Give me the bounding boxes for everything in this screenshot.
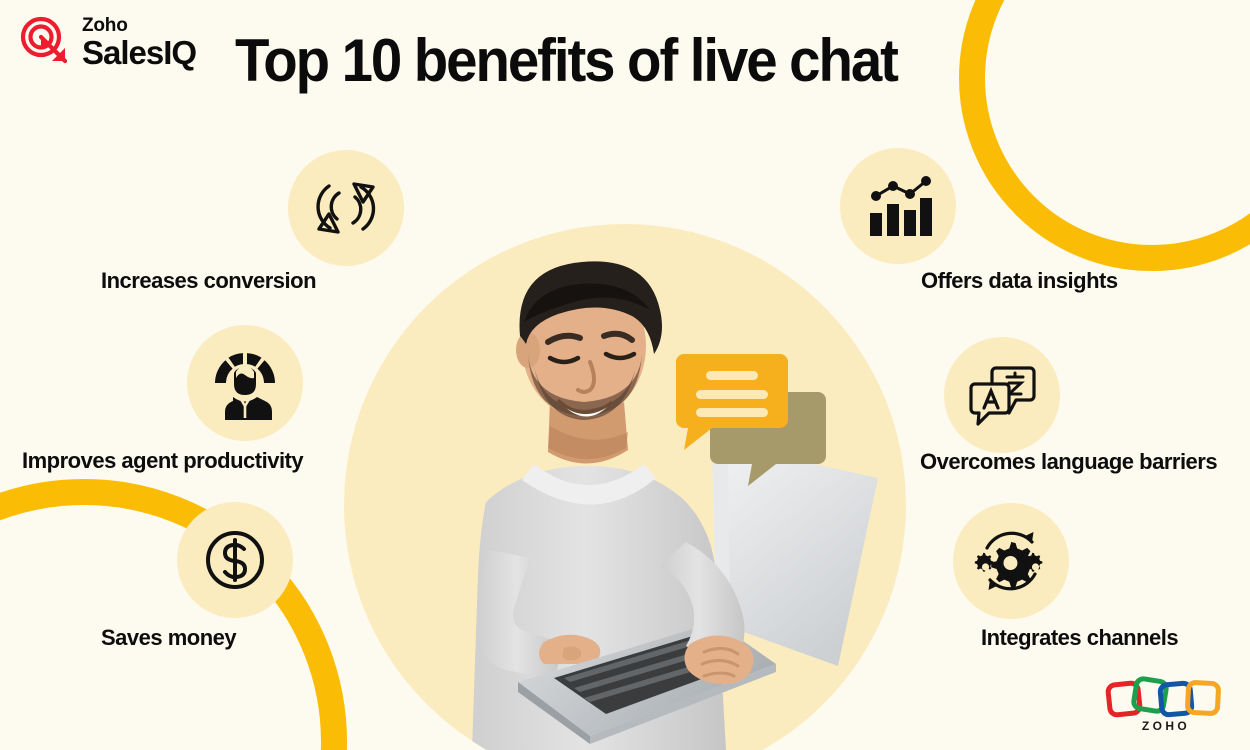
benefit-label-language: Overcomes language barriers	[920, 449, 1217, 475]
benefit-icon-badge-conversion	[288, 150, 404, 266]
benefit-label-money: Saves money	[101, 625, 236, 651]
refresh-cycle-arrows-icon	[309, 171, 383, 245]
brand-company-name: Zoho	[82, 16, 196, 35]
brand-lockup[interactable]: Zoho SalesIQ	[16, 13, 196, 69]
benefit-label-conversion: Increases conversion	[101, 268, 316, 294]
bar-chart-trend-icon	[861, 169, 935, 243]
benefit-label-productivity: Improves agent productivity	[22, 448, 303, 474]
chat-bubbles-graphic	[676, 352, 832, 492]
benefit-icon-badge-channels	[953, 503, 1069, 619]
translate-speech-bubbles-icon	[965, 358, 1039, 432]
benefit-label-channels: Integrates channels	[981, 625, 1178, 651]
infographic-canvas: Zoho SalesIQ Top 10 benefits of live cha…	[0, 0, 1250, 750]
decorative-arc-top-right	[942, 0, 1250, 288]
benefit-icon-badge-productivity	[187, 325, 303, 441]
benefit-icon-badge-insights	[840, 148, 956, 264]
decorative-arc-bottom-left	[0, 462, 364, 750]
zoho-corporate-logo[interactable]: ZOHO	[1104, 672, 1228, 734]
brand-product-name: SalesIQ	[82, 36, 196, 69]
chat-bubble-text-lines	[696, 371, 768, 417]
zoho-wordmark: ZOHO	[1142, 719, 1190, 733]
dollar-coin-icon	[198, 523, 272, 597]
benefit-label-insights: Offers data insights	[921, 268, 1118, 294]
brand-wordmark: Zoho SalesIQ	[82, 14, 196, 69]
benefit-icon-badge-language	[944, 337, 1060, 453]
page-title: Top 10 benefits of live chat	[235, 26, 897, 95]
man-with-laptop-photo	[368, 250, 908, 750]
zoho-salesiq-logo-icon	[16, 13, 72, 69]
agent-gauge-icon	[208, 346, 282, 420]
benefit-icon-badge-money	[177, 502, 293, 618]
gears-sync-icon	[974, 524, 1048, 598]
